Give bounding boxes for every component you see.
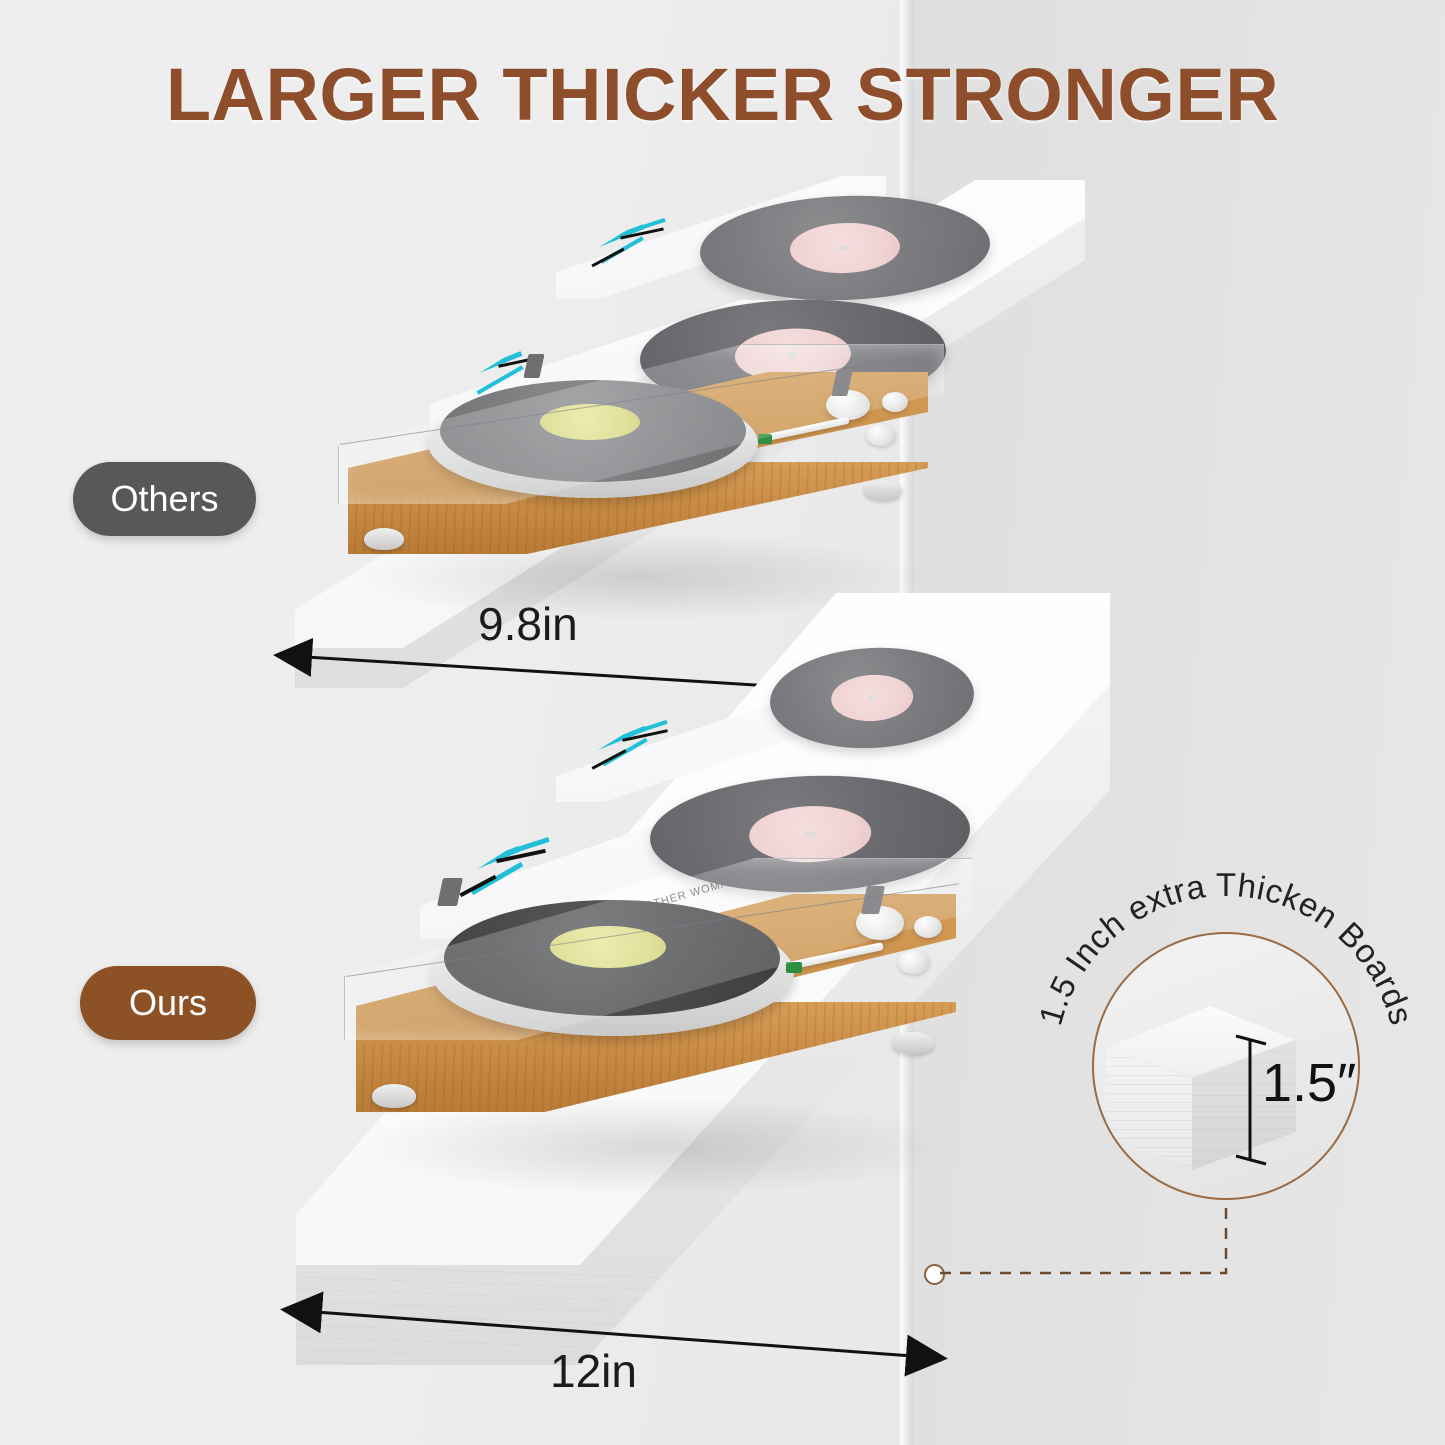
turntable-ours: [336, 872, 976, 1172]
dimension-lower-width-label: 12in: [550, 1344, 637, 1398]
dustcover-hinge2-ours: [437, 878, 463, 906]
badge-others-label: Others: [110, 478, 218, 520]
turntable-ours-shadow: [356, 1097, 956, 1197]
speed-knob-others: [866, 424, 896, 446]
foot-others-1: [364, 528, 404, 550]
thickness-callout: 1.5 Inch extra Thicken Boards 1.5″: [1092, 932, 1360, 1200]
badge-ours: Ours: [80, 966, 256, 1040]
foot-ours-1: [372, 1084, 416, 1108]
foot-others-2: [864, 480, 902, 500]
dimension-lower-width: 12in: [300, 1300, 930, 1360]
callout-ring: 1.5″: [1092, 932, 1360, 1200]
page-title: LARGER THICKER STRONGER: [0, 52, 1445, 137]
turntable-others: [330, 352, 950, 602]
speed-knob-ours: [898, 950, 930, 974]
callout-thickness-label: 1.5″: [1262, 1052, 1356, 1114]
badge-ours-label: Ours: [129, 982, 207, 1024]
infographic-canvas: LARGER THICKER STRONGER: [0, 0, 1445, 1445]
foot-ours-2: [892, 1032, 934, 1054]
badge-others: Others: [73, 462, 256, 536]
dustcover-hinge2-others: [523, 354, 544, 378]
